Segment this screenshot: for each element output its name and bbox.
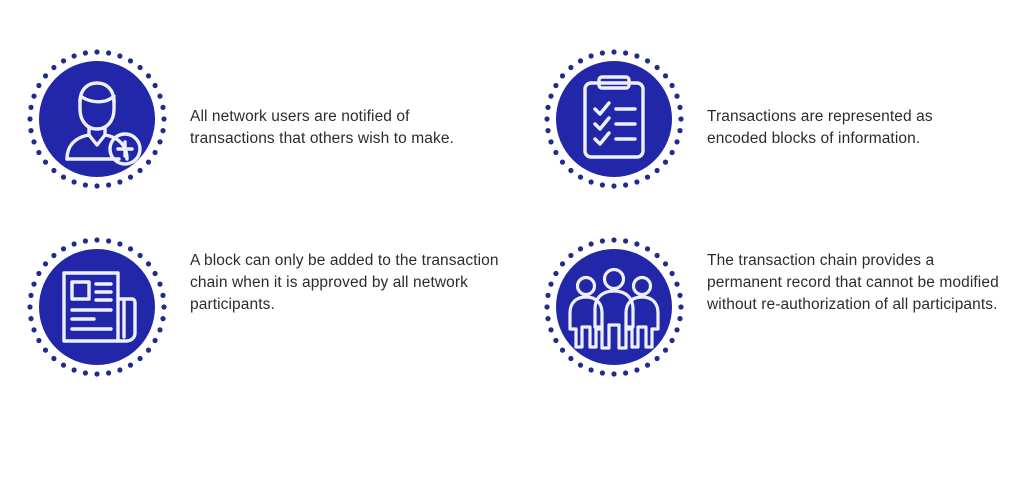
badge-add-user xyxy=(26,48,168,190)
item-2-caption: Transactions are represented as encoded … xyxy=(707,48,997,150)
item-4-caption: The transaction chain provides a permane… xyxy=(707,236,1002,316)
group-of-people-icon xyxy=(556,249,672,365)
item-3-caption: A block can only be added to the transac… xyxy=(190,236,510,316)
infographic-item-1: All network users are notified of transa… xyxy=(26,48,475,190)
newspaper-document-icon xyxy=(39,249,155,365)
item-1-caption: All network users are notified of transa… xyxy=(190,48,475,150)
add-user-icon xyxy=(39,61,155,177)
infographic-canvas: All network users are notified of transa… xyxy=(0,0,1024,478)
infographic-item-3: A block can only be added to the transac… xyxy=(26,236,510,378)
infographic-item-4: The transaction chain provides a permane… xyxy=(543,236,1002,378)
badge-group xyxy=(543,236,685,378)
infographic-item-2: Transactions are represented as encoded … xyxy=(543,48,997,190)
badge-clipboard xyxy=(543,48,685,190)
badge-newspaper xyxy=(26,236,168,378)
clipboard-checklist-icon xyxy=(556,61,672,177)
